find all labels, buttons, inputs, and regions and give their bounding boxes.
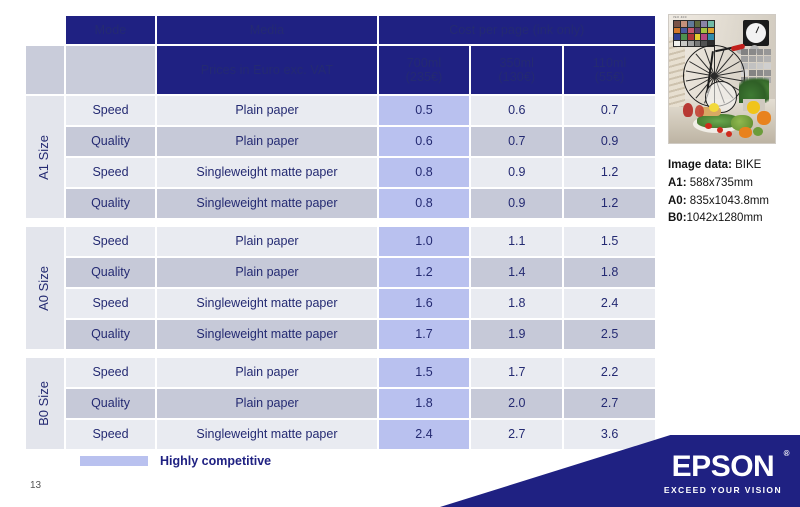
cell-mode: Speed [66, 96, 156, 125]
cell-cost-350ml: 0.9 [471, 189, 562, 218]
color-checker-swatch-13 [674, 34, 680, 40]
volume-110ml-price: (55€) [564, 70, 655, 84]
table-header-row-1: Mode Media Cost per page (ink only) [26, 16, 655, 44]
cell-mode: Speed [66, 158, 156, 187]
color-checker-swatch-6 [708, 21, 714, 27]
caption-a0: A0: 835x1043.8mm [668, 193, 780, 211]
header-volume-350ml: 350ml (130€) [471, 46, 562, 94]
table-body: A1 SizeSpeedPlain paper0.50.60.7QualityP… [26, 96, 655, 449]
header-volume-110ml: 110ml (55€) [564, 46, 655, 94]
size-group-label-rotator: B0 Size [26, 358, 64, 449]
color-checker-swatch-5 [701, 21, 707, 27]
cell-cost-350ml: 1.1 [471, 227, 562, 256]
caption-b0-value: 1042x1280mm [687, 212, 763, 224]
color-checker-swatch-11 [701, 28, 707, 34]
color-checker-swatch-12 [708, 28, 714, 34]
cell-mode: Quality [66, 320, 156, 349]
volume-700ml-price: (235€) [379, 70, 470, 84]
cell-mode: Speed [66, 420, 156, 449]
photo-wine-glass-2 [695, 105, 704, 117]
grey-patch-6 [749, 56, 756, 62]
size-group-label-rotator: A1 Size [26, 96, 64, 218]
brand-tagline: EXCEED YOUR VISION [664, 485, 782, 495]
header-size-blank [26, 46, 64, 94]
grey-patch-5 [741, 56, 748, 62]
header-volume-700ml: 700ml (235€) [379, 46, 470, 94]
volume-350ml-ml: 350ml [471, 56, 562, 70]
sidebar-photo-panel: ISO 400 [668, 14, 780, 228]
photo-iso-label: ISO 400 [673, 15, 687, 19]
grey-patch-4 [764, 49, 771, 55]
cell-mode: Quality [66, 258, 156, 287]
caption-b0-label: B0: [668, 212, 687, 224]
size-group-label-a0: A0 Size [26, 227, 64, 349]
photo-tomato-3 [705, 123, 712, 129]
cell-cost-350ml: 0.6 [471, 96, 562, 125]
header-mode: Mode [66, 16, 156, 44]
color-checker-swatch-7 [674, 28, 680, 34]
cell-cost-110ml: 1.2 [564, 189, 655, 218]
cell-cost-700ml: 1.6 [379, 289, 470, 318]
grey-patch-3 [757, 49, 764, 55]
header-cost-per-page: Cost per page (ink only) [379, 16, 655, 44]
cell-cost-350ml: 0.7 [471, 127, 562, 156]
table-row: SpeedSingleweight matte paper0.80.91.2 [26, 158, 655, 187]
size-group-label-a1: A1 Size [26, 96, 64, 218]
cell-cost-350ml: 0.9 [471, 158, 562, 187]
color-checker-swatch-19 [674, 41, 680, 47]
cell-cost-110ml: 2.7 [564, 389, 655, 418]
color-checker-swatch-8 [681, 28, 687, 34]
cell-cost-700ml: 0.8 [379, 158, 470, 187]
page-number: 13 [30, 480, 41, 491]
photo-bike-test-chart: ISO 400 [668, 14, 776, 144]
color-checker-swatch-1 [674, 21, 680, 27]
grey-patch-8 [764, 56, 771, 62]
cell-cost-700ml: 0.5 [379, 96, 470, 125]
caption-image-data-value: BIKE [732, 159, 761, 171]
header-media: Media [157, 16, 376, 44]
cell-media: Singleweight matte paper [157, 189, 376, 218]
table-group-spacer [26, 220, 655, 225]
cell-mode: Speed [66, 227, 156, 256]
cell-media: Plain paper [157, 389, 376, 418]
brand-name-text: EPSON [672, 450, 775, 483]
brand-logo: EPSON® EXCEED YOUR VISION [664, 452, 782, 495]
photo-green-vegetable [753, 127, 763, 136]
cell-cost-110ml: 0.9 [564, 127, 655, 156]
slide-canvas: Mode Media Cost per page (ink only) Pric… [0, 0, 800, 507]
cell-media: Plain paper [157, 258, 376, 287]
cell-media: Plain paper [157, 127, 376, 156]
cell-cost-110ml: 0.7 [564, 96, 655, 125]
color-checker-swatch-9 [688, 28, 694, 34]
cell-cost-110ml: 2.4 [564, 289, 655, 318]
caption-image-data: Image data: BIKE [668, 157, 780, 175]
grey-patch-1 [741, 49, 748, 55]
cell-mode: Quality [66, 127, 156, 156]
grey-patch-11 [757, 63, 764, 69]
cell-cost-700ml: 1.2 [379, 258, 470, 287]
cell-mode: Speed [66, 289, 156, 318]
header-prices-note: Prices in Euro exc. VAT [157, 46, 376, 94]
grey-patch-14 [749, 70, 756, 76]
color-checker-swatch-4 [695, 21, 701, 27]
color-checker-swatch-2 [681, 21, 687, 27]
photo-orange-fruit [739, 127, 752, 138]
caption-a0-label: A0: [668, 195, 687, 207]
header-corner-blank [26, 16, 64, 44]
photo-orange-pepper [757, 111, 771, 125]
color-checker-swatch-21 [688, 41, 694, 47]
table-row: SpeedSingleweight matte paper1.61.82.4 [26, 289, 655, 318]
volume-110ml-ml: 110ml [564, 56, 655, 70]
cell-cost-350ml: 2.0 [471, 389, 562, 418]
cell-cost-350ml: 1.8 [471, 289, 562, 318]
volume-700ml-ml: 700ml [379, 56, 470, 70]
table-row: QualitySingleweight matte paper1.71.92.5 [26, 320, 655, 349]
caption-a1-label: A1: [668, 177, 687, 189]
cell-cost-110ml: 2.5 [564, 320, 655, 349]
caption-a1: A1: 588x735mm [668, 175, 780, 193]
legend-label: Highly competitive [160, 454, 271, 468]
table-row: QualityPlain paper1.21.41.8 [26, 258, 655, 287]
legend: Highly competitive [80, 454, 271, 468]
cell-media: Singleweight matte paper [157, 289, 376, 318]
photo-color-checker-chart [673, 20, 715, 47]
grey-patch-2 [749, 49, 756, 55]
table-group-spacer [26, 351, 655, 356]
table-row: B0 SizeSpeedPlain paper1.51.72.2 [26, 358, 655, 387]
cell-cost-700ml: 1.8 [379, 389, 470, 418]
cell-cost-350ml: 1.9 [471, 320, 562, 349]
header-mode-blank [66, 46, 156, 94]
cell-media: Singleweight matte paper [157, 158, 376, 187]
cell-mode: Speed [66, 358, 156, 387]
color-checker-swatch-10 [695, 28, 701, 34]
size-group-label-text: B0 Size [37, 381, 52, 426]
cell-cost-350ml: 1.7 [471, 358, 562, 387]
cell-media: Singleweight matte paper [157, 420, 376, 449]
caption-image-data-label: Image data: [668, 159, 732, 171]
cell-cost-110ml: 1.5 [564, 227, 655, 256]
cell-media: Plain paper [157, 227, 376, 256]
caption-a0-value: 835x1043.8mm [687, 195, 769, 207]
table-group-spacer-cell [26, 220, 655, 225]
photo-tomato-1 [717, 127, 723, 133]
photo-tomato-2 [726, 131, 732, 137]
cell-cost-110ml: 2.2 [564, 358, 655, 387]
photo-caption: Image data: BIKE A1: 588x735mm A0: 835x1… [668, 157, 780, 228]
table-row: A1 SizeSpeedPlain paper0.50.60.7 [26, 96, 655, 125]
table-row: A0 SizeSpeedPlain paper1.01.11.5 [26, 227, 655, 256]
legend-swatch-highly-competitive [80, 456, 148, 466]
cell-cost-110ml: 1.8 [564, 258, 655, 287]
color-checker-swatch-14 [681, 34, 687, 40]
color-checker-swatch-16 [695, 34, 701, 40]
size-group-label-text: A1 Size [37, 135, 52, 180]
color-checker-swatch-17 [701, 34, 707, 40]
cell-cost-350ml: 1.4 [471, 258, 562, 287]
cell-cost-700ml: 0.8 [379, 189, 470, 218]
cell-cost-700ml: 1.0 [379, 227, 470, 256]
grey-patch-7 [757, 56, 764, 62]
color-checker-swatch-3 [688, 21, 694, 27]
cell-mode: Quality [66, 389, 156, 418]
photo-clock [743, 20, 769, 46]
cost-per-page-table: Mode Media Cost per page (ink only) Pric… [24, 14, 657, 451]
cell-cost-700ml: 1.7 [379, 320, 470, 349]
caption-b0: B0:1042x1280mm [668, 210, 780, 228]
color-checker-swatch-20 [681, 41, 687, 47]
grey-patch-15 [757, 70, 764, 76]
table-row: QualityPlain paper1.82.02.7 [26, 389, 655, 418]
size-group-label-b0: B0 Size [26, 358, 64, 449]
cell-cost-110ml: 1.2 [564, 158, 655, 187]
registered-trademark-icon: ® [784, 450, 789, 458]
table-row: QualityPlain paper0.60.70.9 [26, 127, 655, 156]
cell-media: Plain paper [157, 358, 376, 387]
cell-cost-700ml: 0.6 [379, 127, 470, 156]
size-group-label-text: A0 Size [37, 266, 52, 311]
epson-brand-bar: EPSON® EXCEED YOUR VISION [440, 435, 800, 507]
color-checker-swatch-22 [695, 41, 701, 47]
caption-a1-value: 588x735mm [687, 177, 753, 189]
color-checker-swatch-18 [708, 34, 714, 40]
table-group-spacer-cell [26, 351, 655, 356]
photo-lemon [709, 103, 719, 112]
volume-350ml-price: (130€) [471, 70, 562, 84]
table-header: Mode Media Cost per page (ink only) Pric… [26, 16, 655, 94]
size-group-label-rotator: A0 Size [26, 227, 64, 349]
grey-patch-16 [764, 70, 771, 76]
table-row: QualitySingleweight matte paper0.80.91.2 [26, 189, 655, 218]
cell-media: Singleweight matte paper [157, 320, 376, 349]
table-header-row-2: Prices in Euro exc. VAT 700ml (235€) 350… [26, 46, 655, 94]
cell-mode: Quality [66, 189, 156, 218]
photo-wine-glass-1 [683, 103, 693, 117]
cell-cost-700ml: 1.5 [379, 358, 470, 387]
brand-name: EPSON® [664, 452, 782, 482]
cell-media: Plain paper [157, 96, 376, 125]
grey-patch-12 [764, 63, 771, 69]
color-checker-swatch-15 [688, 34, 694, 40]
grey-patch-10 [749, 63, 756, 69]
